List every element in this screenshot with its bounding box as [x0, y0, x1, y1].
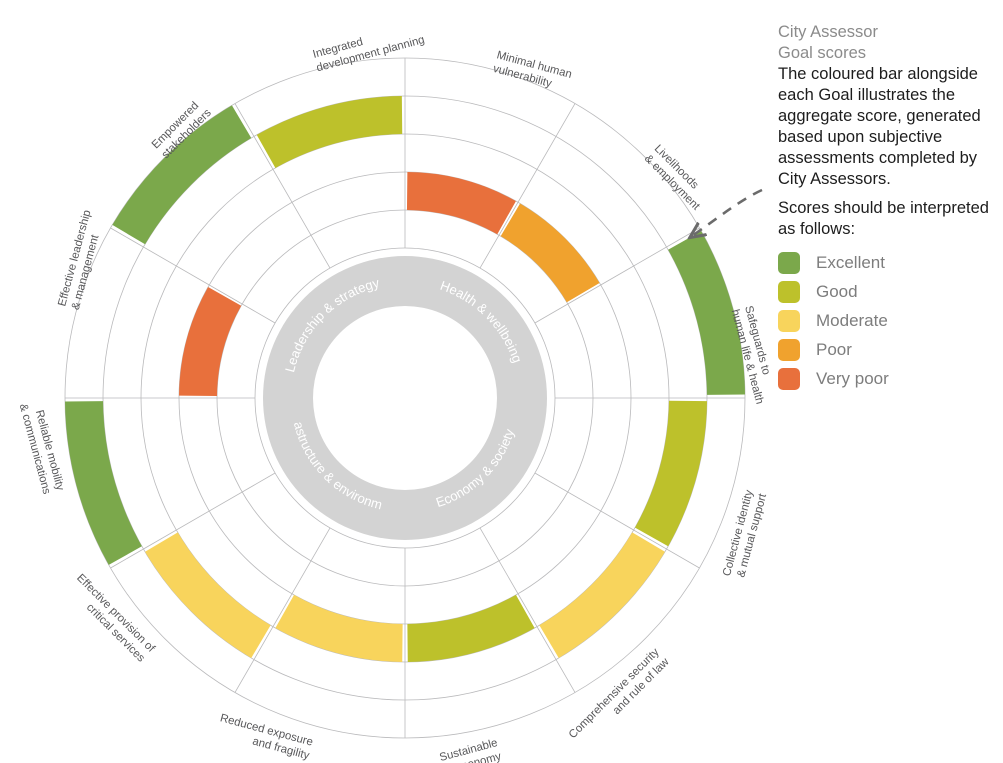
goal-score-bar[interactable] [407, 595, 534, 662]
goal-score-bar[interactable] [407, 172, 516, 234]
legend-panel: City Assessor Goal scores The coloured b… [778, 0, 1003, 763]
legend-scores-intro: Scores should be interpreted as follows: [778, 198, 1003, 240]
goal-label: Reliable mobility& communications [17, 399, 66, 496]
legend-title-line1: City Assessor [778, 22, 1003, 43]
resilience-wheel-panel: Health & wellbeingEconomy & societyInfra… [0, 0, 770, 763]
legend-swatch-icon [778, 281, 800, 303]
goal-score-bar[interactable] [65, 401, 142, 565]
legend-item-good: Good [778, 277, 1003, 306]
wheel-center-hub [263, 256, 547, 540]
goal-label: Reduced exposureand fragility [215, 712, 314, 762]
legend-item-label: Poor [816, 340, 852, 360]
resilience-wheel-chart: Health & wellbeingEconomy & societyInfra… [0, 0, 770, 763]
grid-spoke [111, 228, 276, 323]
goal-score-bar[interactable] [275, 595, 402, 662]
goal-label: Integrateddevelopment planning [312, 20, 426, 74]
goal-label: Minimal humanvulnerability [492, 49, 573, 94]
legend-item-poor: Poor [778, 335, 1003, 364]
legend-score-items: ExcellentGoodModeratePoorVery poor [778, 248, 1003, 393]
goal-score-bar[interactable] [501, 203, 600, 302]
legend-swatch-icon [778, 310, 800, 332]
goal-label: Livelihoods& employment [642, 143, 712, 213]
goal-score-bar[interactable] [145, 532, 271, 658]
goal-label: Sustainableeconomy [438, 737, 503, 763]
legend-item-excellent: Excellent [778, 248, 1003, 277]
legend-swatch-icon [778, 252, 800, 274]
legend-swatch-icon [778, 368, 800, 390]
legend-description: The coloured bar alongside each Goal ill… [778, 64, 1003, 190]
legend-swatch-icon [778, 339, 800, 361]
dimension-label: Infrastructure & environment [0, 0, 384, 512]
legend-item-label: Excellent [816, 253, 885, 273]
grid-spoke [111, 473, 276, 568]
legend-item-label: Good [816, 282, 858, 302]
legend-title-line2: Goal scores [778, 43, 1003, 64]
goal-label: Effective provision ofcritical services [64, 572, 157, 665]
hub-donut [263, 256, 547, 540]
goal-label: Effective leadership& management [56, 209, 107, 312]
goal-score-bar[interactable] [539, 532, 665, 658]
goal-score-bar[interactable] [635, 401, 707, 546]
legend-item-label: Moderate [816, 311, 888, 331]
callout-arrow-icon [692, 190, 762, 236]
goal-score-bar[interactable] [179, 287, 241, 396]
legend-item-moderate: Moderate [778, 306, 1003, 335]
legend-item-label: Very poor [816, 369, 889, 389]
goal-score-bar[interactable] [257, 96, 402, 168]
legend-item-very-poor: Very poor [778, 364, 1003, 393]
legend-header: City Assessor Goal scores The coloured b… [778, 22, 1003, 190]
